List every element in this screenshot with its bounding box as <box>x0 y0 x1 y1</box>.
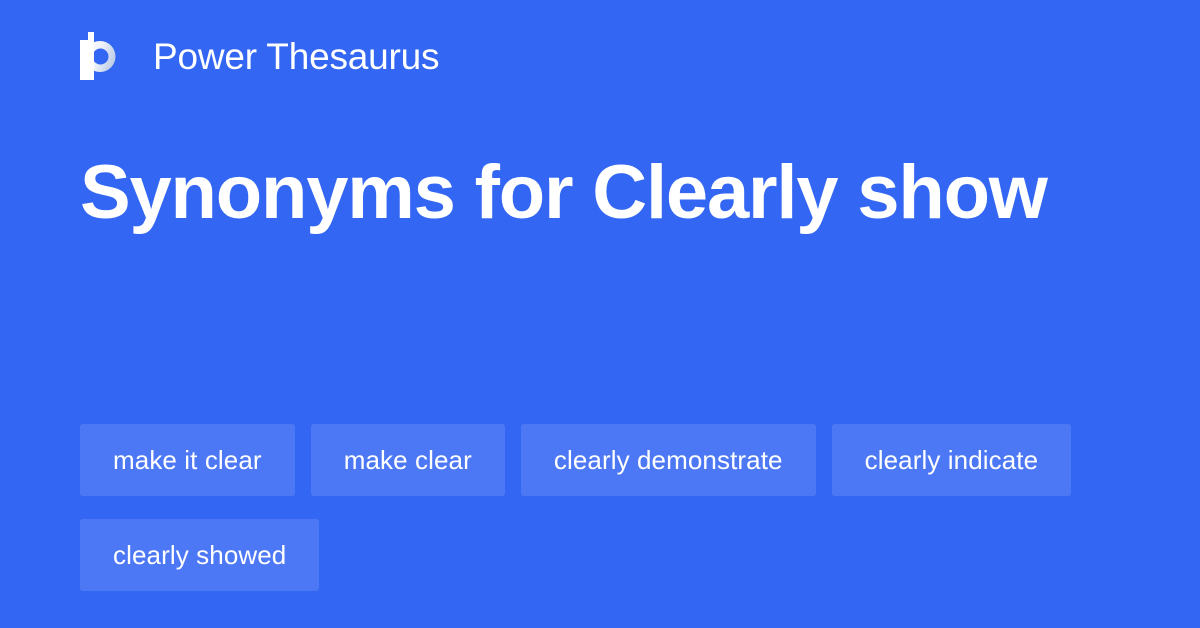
synonym-chip[interactable]: make it clear <box>80 424 295 496</box>
page-title: Synonyms for Clearly show <box>80 136 1090 250</box>
synonym-chip-list: make it clear make clear clearly demonst… <box>80 424 1120 591</box>
brand-logo[interactable]: Power Thesaurus <box>80 28 439 84</box>
synonym-chip[interactable]: clearly demonstrate <box>521 424 816 496</box>
social-card: Power Thesaurus Synonyms for Clearly sho… <box>0 0 1200 628</box>
power-thesaurus-b-logo-icon <box>80 32 124 80</box>
synonym-chip[interactable]: clearly showed <box>80 519 319 591</box>
brand-name: Power Thesaurus <box>153 38 439 75</box>
synonym-chip[interactable]: make clear <box>311 424 505 496</box>
synonym-chip[interactable]: clearly indicate <box>832 424 1072 496</box>
